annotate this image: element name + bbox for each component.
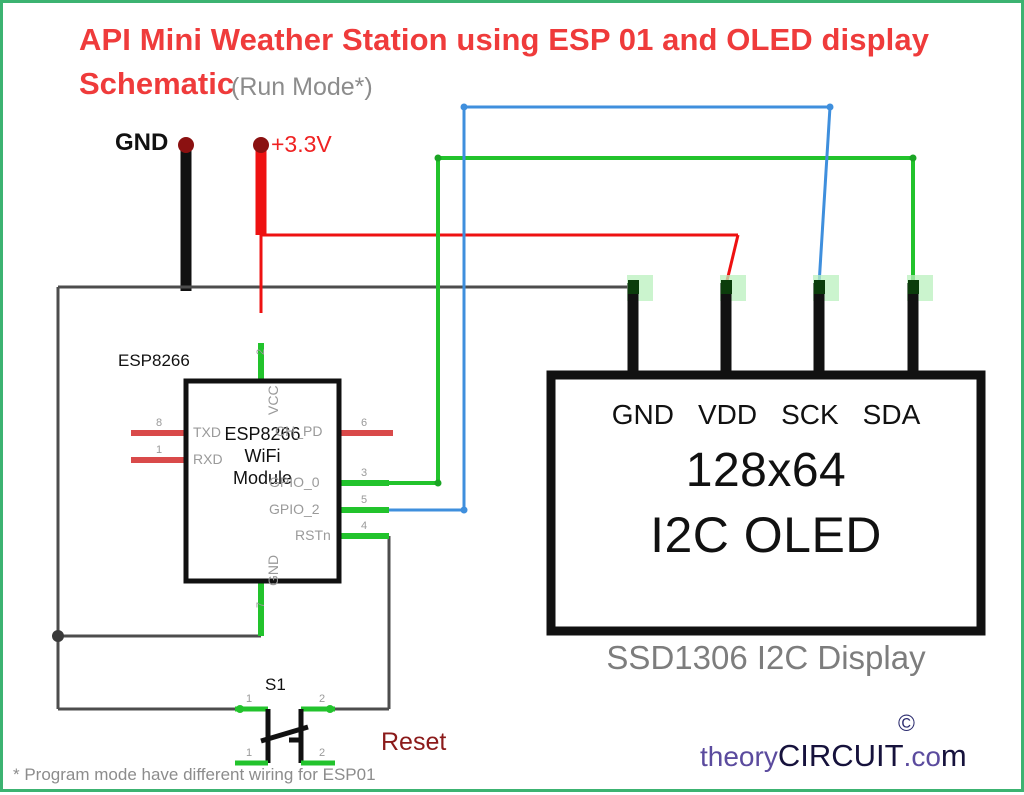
esp-pin-number-vcc: 2: [255, 349, 267, 355]
oled-resolution-text: 128x64: [551, 443, 981, 498]
esp-pin-label-gpio2: GPIO_2: [269, 501, 320, 517]
oled-type-text: I2C OLED: [551, 506, 981, 564]
net-gnd: [52, 137, 633, 709]
logo-part-theory: theory: [700, 741, 778, 772]
esp-pin-number-chpd: 6: [361, 417, 367, 429]
switch-function-label: Reset: [381, 728, 446, 757]
esp-pin-label-gpio0: GPIO_0: [269, 474, 320, 490]
gnd-rail-label: GND: [115, 129, 168, 157]
oled-pin-label-gnd: GND: [612, 399, 674, 431]
switch-terminal-number-2a: 2: [319, 693, 325, 705]
esp-pin-label-chpd: CH_PD: [275, 423, 322, 439]
switch-terminal-number-1a: 1: [246, 693, 252, 705]
esp-pin-label-txd: TXD: [193, 424, 221, 440]
switch-terminal-number-2b: 2: [319, 747, 325, 759]
logo-part-dotco: .co: [904, 741, 941, 772]
vcc-rail-label: +3.3V: [271, 131, 332, 158]
oled-pin-label-sck: SCK: [781, 399, 839, 431]
esp-pin-number-rxd: 1: [156, 444, 162, 456]
logo-part-circuit: CIRCUIT: [778, 738, 904, 773]
esp-reference-designator: ESP8266: [118, 351, 190, 371]
esp-pin-label-vcc: VCC: [265, 385, 281, 415]
page-title-mode: (Run Mode*): [231, 73, 373, 102]
switch-reference-designator: S1: [265, 675, 286, 695]
oled-pin-label-vdd: VDD: [698, 399, 757, 431]
oled-pin-label-sda: SDA: [863, 399, 921, 431]
esp-chip-title-line2: WiFi: [245, 446, 281, 466]
gnd-terminal-dot: [178, 137, 194, 153]
esp-pin-label-rxd: RXD: [193, 451, 223, 467]
esp-pin-number-rstn: 4: [361, 520, 367, 532]
esp-pin-label-rstn: RSTn: [295, 527, 331, 543]
site-logo[interactable]: theoryCIRCUIT.com: [700, 738, 967, 774]
schematic-canvas: API Mini Weather Station using ESP 01 an…: [0, 0, 1024, 792]
junction-dot-gnd: [52, 630, 64, 642]
oled-pin-label-row: GND VDD SCK SDA: [551, 399, 981, 431]
esp-pin-number-gpio0: 3: [361, 467, 367, 479]
esp-pin-number-gpio2: 5: [361, 494, 367, 506]
vcc-terminal-dot: [253, 137, 269, 153]
esp-pin-number-gnd: 7: [255, 602, 267, 608]
page-title-line1: API Mini Weather Station using ESP 01 an…: [79, 22, 929, 58]
logo-part-m: m: [941, 738, 967, 773]
page-title-line2: Schematic: [79, 66, 234, 102]
copyright-icon: ©: [898, 710, 915, 737]
oled-caption: SSD1306 I2C Display: [551, 639, 981, 677]
switch-terminal-number-1b: 1: [246, 747, 252, 759]
esp-pin-label-gnd: GND: [265, 555, 281, 586]
esp-pin-number-txd: 8: [156, 417, 162, 429]
footer-note: * Program mode have different wiring for…: [13, 765, 376, 785]
oled-pin-legs: [627, 275, 933, 378]
